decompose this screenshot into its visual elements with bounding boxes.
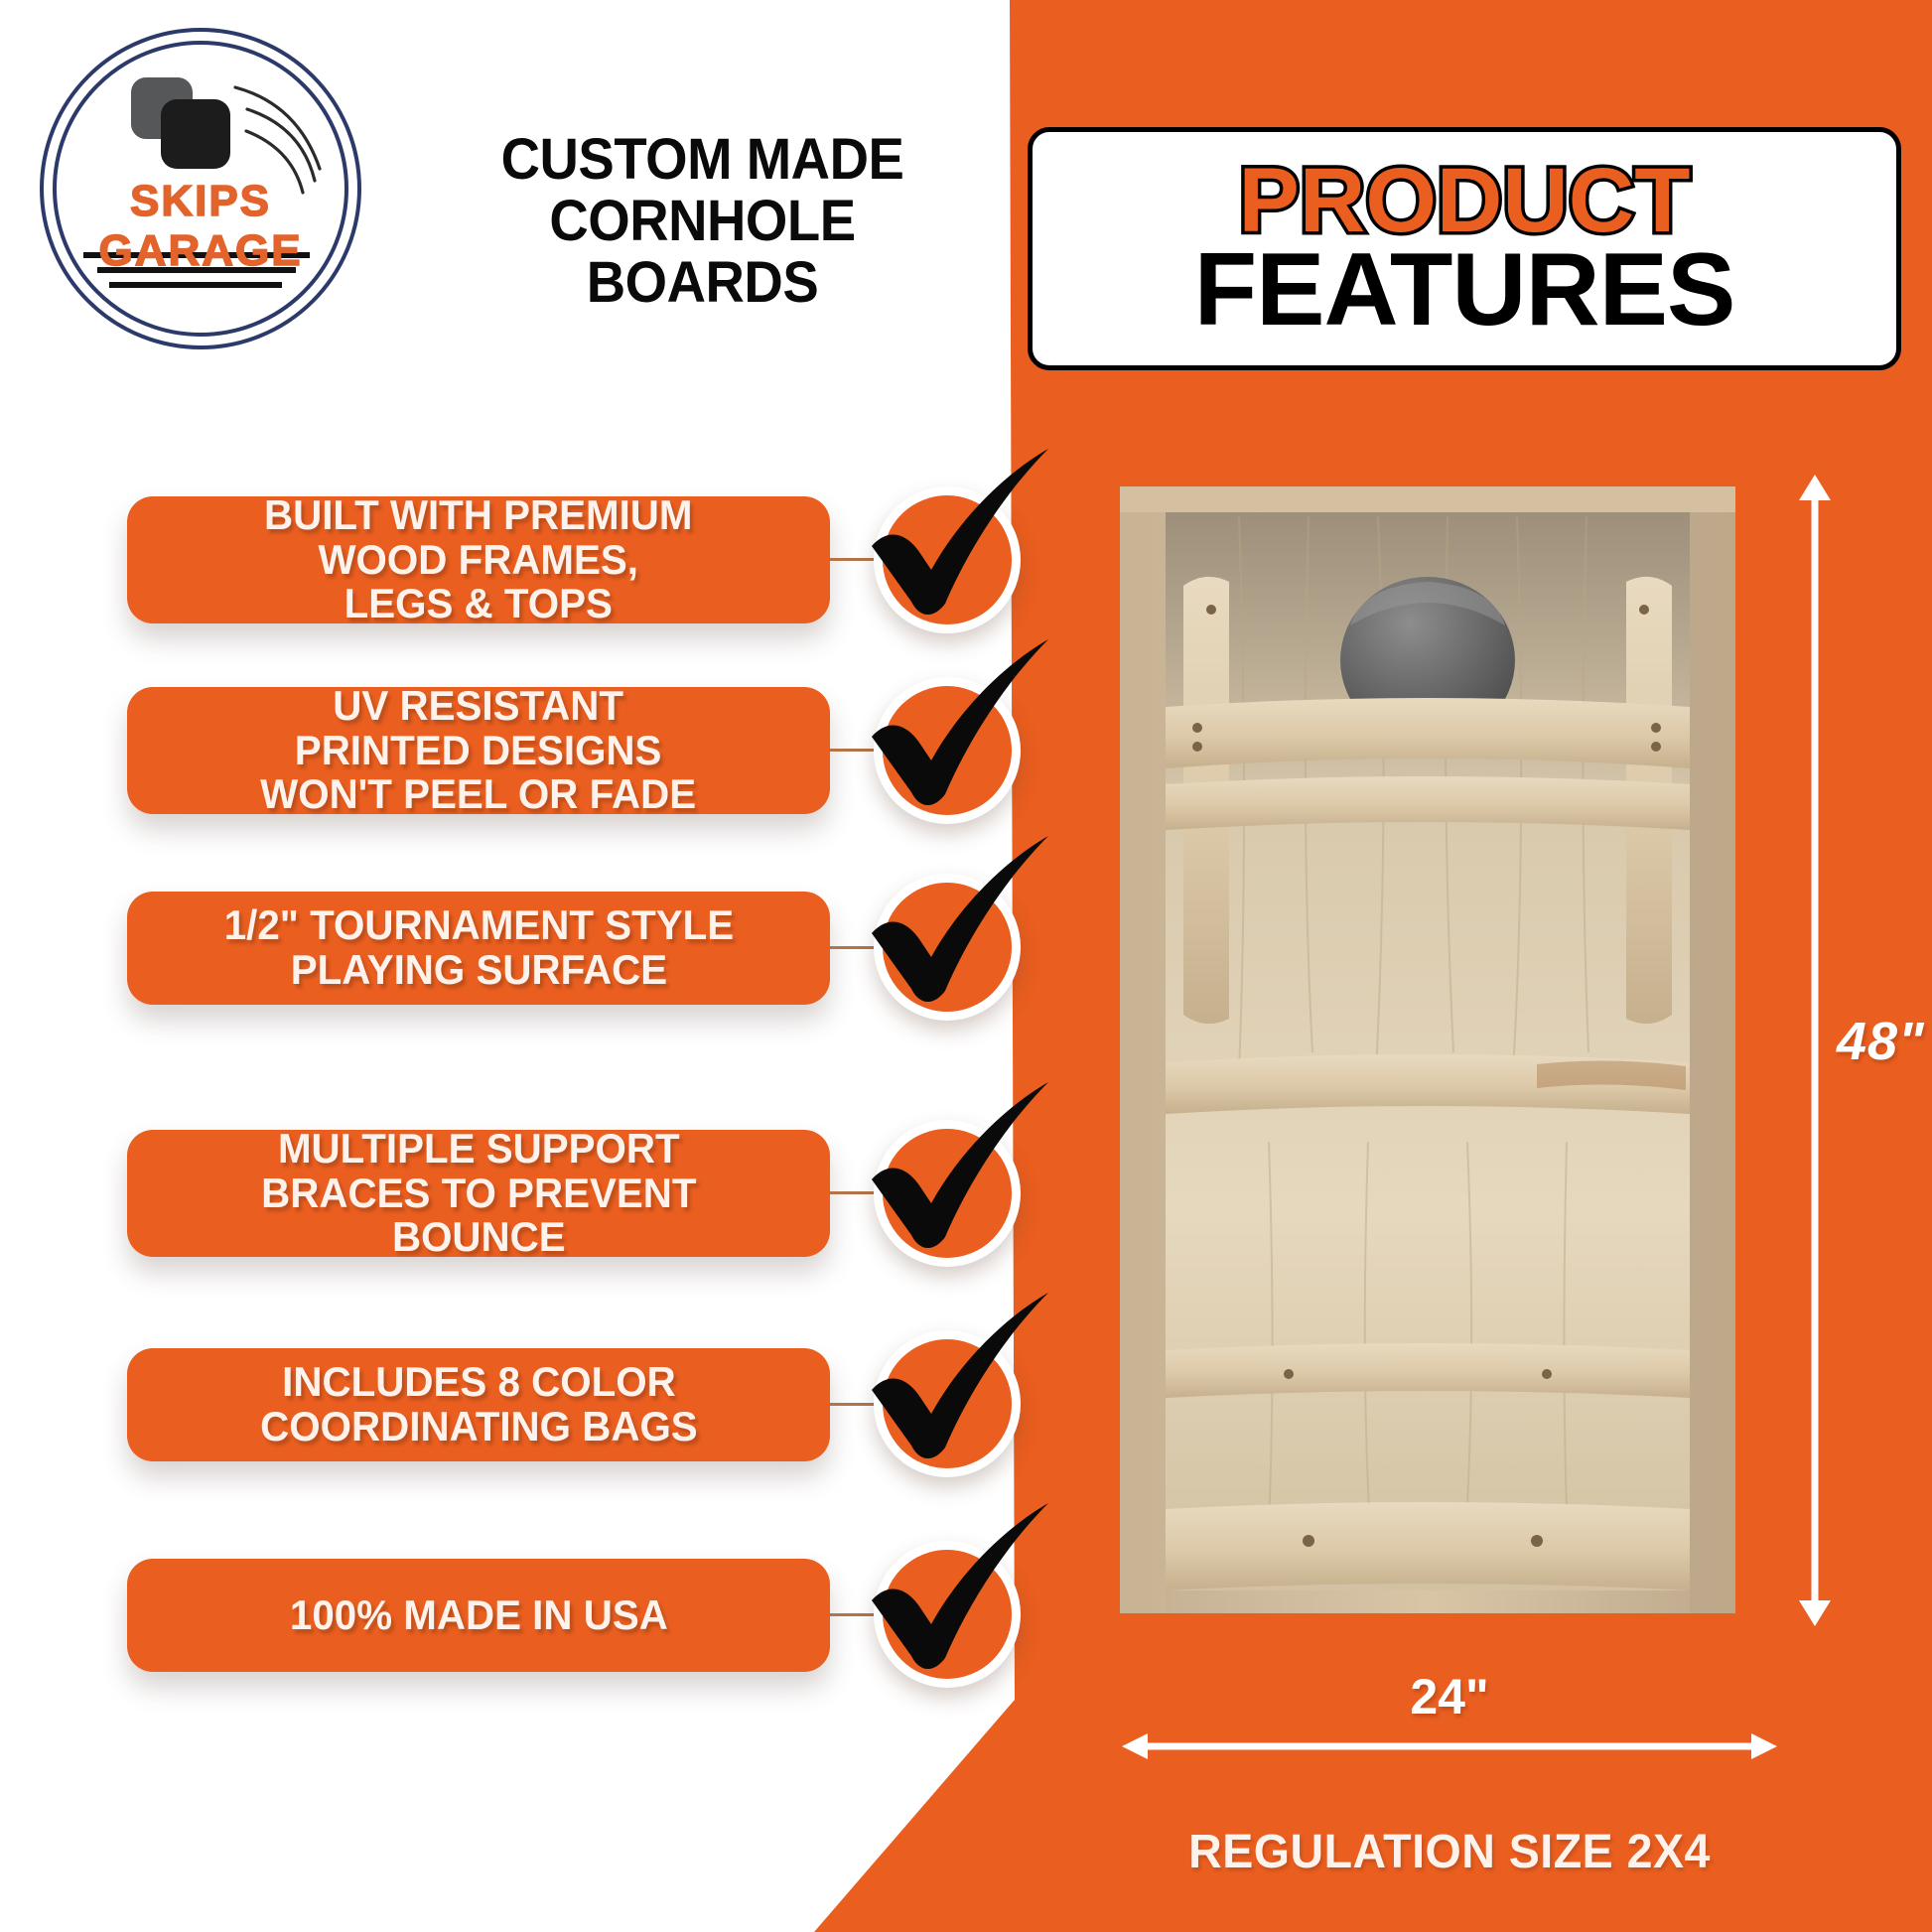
feature-pill-text: 1/2" TOURNAMENT STYLE PLAYING SURFACE: [223, 903, 733, 992]
banner-word-features: FEATURES: [1194, 240, 1735, 342]
feature-text-line: WOOD FRAMES,: [264, 538, 693, 583]
feature-pill[interactable]: 100% MADE IN USA: [127, 1559, 830, 1672]
check-mark-icon: [858, 1076, 1056, 1265]
check-mark-icon: [858, 830, 1056, 1019]
dimension-height-label: 48": [1837, 1011, 1925, 1072]
feature-text-line: COORDINATING BAGS: [260, 1405, 698, 1449]
feature-pill-text: INCLUDES 8 COLOR COORDINATING BAGS: [260, 1360, 698, 1449]
page-title-line-1: CUSTOM MADE: [444, 129, 962, 191]
feature-text-line: LEGS & TOPS: [264, 582, 693, 626]
brand-logo: SKIPS GARAGE: [22, 10, 379, 367]
check-mark-icon: [858, 443, 1056, 631]
feature-pill[interactable]: BUILT WITH PREMIUM WOOD FRAMES, LEGS & T…: [127, 496, 830, 623]
dimension-width-label: 24": [1122, 1668, 1777, 1725]
page-title-line-3: BOARDS: [444, 252, 962, 314]
board-shelf-upper: [1166, 776, 1690, 830]
feature-text-line: BUILT WITH PREMIUM: [264, 493, 693, 538]
regulation-size-note: REGULATION SIZE 2X4: [1083, 1825, 1815, 1879]
check-mark-icon: [858, 633, 1056, 822]
check-mark-icon: [858, 1497, 1056, 1686]
board-support-brace-upper: [1166, 698, 1690, 768]
board-support-brace-lower: [1166, 1343, 1690, 1398]
feature-text-line: INCLUDES 8 COLOR: [260, 1360, 698, 1405]
dimension-height: 48": [1793, 475, 1912, 1626]
page-title-line-2: CORNHOLE: [444, 191, 962, 252]
dimension-width: 24": [1122, 1729, 1777, 1799]
logo-square-front: [161, 99, 230, 169]
logo-motion-arc-2: [247, 109, 315, 181]
page-title: CUSTOM MADE CORNHOLE BOARDS: [444, 129, 962, 314]
feature-pill[interactable]: 1/2" TOURNAMENT STYLE PLAYING SURFACE: [127, 892, 830, 1005]
feature-pill[interactable]: MULTIPLE SUPPORT BRACES TO PREVENT BOUNC…: [127, 1130, 830, 1257]
feature-text-line: MULTIPLE SUPPORT: [261, 1127, 696, 1172]
dimension-arrow-horizontal: [1122, 1729, 1777, 1763]
board-bottom-rail: [1166, 1502, 1690, 1590]
feature-pill-text: MULTIPLE SUPPORT BRACES TO PREVENT BOUNC…: [261, 1127, 696, 1260]
feature-text-line: 100% MADE IN USA: [290, 1593, 668, 1638]
feature-text-line: WON'T PEEL OR FADE: [261, 772, 697, 817]
feature-text-line: BOUNCE: [261, 1215, 696, 1260]
product-features-banner: PRODUCT FEATURES: [1028, 127, 1901, 370]
feature-pill-text: BUILT WITH PREMIUM WOOD FRAMES, LEGS & T…: [264, 493, 693, 626]
feature-text-line: BRACES TO PREVENT: [261, 1172, 696, 1216]
check-mark-icon: [858, 1287, 1056, 1475]
feature-pill-text: UV RESISTANT PRINTED DESIGNS WON'T PEEL …: [261, 684, 697, 817]
product-photo-cornhole-board: [1120, 486, 1735, 1613]
feature-text-line: UV RESISTANT: [261, 684, 697, 729]
banner-word-product: PRODUCT: [1239, 156, 1691, 245]
feature-pill[interactable]: INCLUDES 8 COLOR COORDINATING BAGS: [127, 1348, 830, 1461]
feature-pill-text: 100% MADE IN USA: [290, 1593, 668, 1638]
logo-wordmark: SKIPS GARAGE: [22, 177, 379, 276]
feature-pill[interactable]: UV RESISTANT PRINTED DESIGNS WON'T PEEL …: [127, 687, 830, 814]
feature-text-line: PRINTED DESIGNS: [261, 729, 697, 773]
feature-text-line: PLAYING SURFACE: [223, 948, 733, 993]
dimension-arrow-vertical: [1793, 475, 1837, 1626]
feature-text-line: 1/2" TOURNAMENT STYLE: [223, 903, 733, 948]
